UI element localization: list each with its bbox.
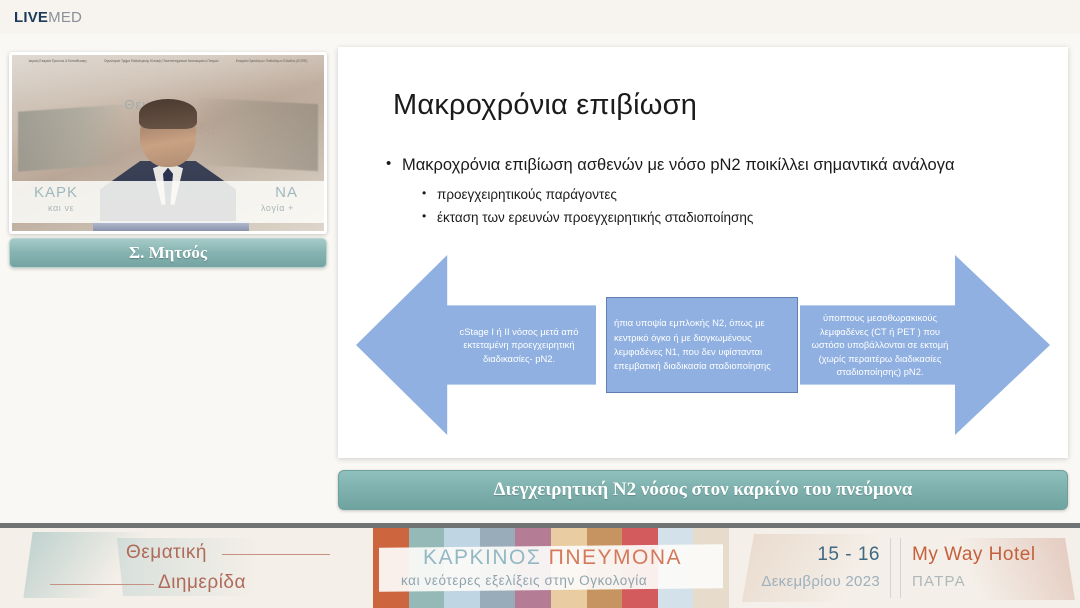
livemed-logo[interactable]: LIVEMED <box>14 9 82 26</box>
backdrop-organizers: Ιατρική Εταιρεία Έρευνας & Εκπαίδευσης Ο… <box>12 59 324 64</box>
backdrop-banner-left: ΚΑΡΚ <box>34 184 78 201</box>
logo-live-text: LIVE <box>14 9 48 26</box>
session-title-banner: Διεγχειρητική Ν2 νόσος στον καρκίνο του … <box>338 470 1068 510</box>
footer-rule-bottom <box>50 584 154 585</box>
slide-title: Μακροχρόνια επιβίωση <box>393 89 697 122</box>
footer-left-block: Θεματική Διημερίδα <box>0 528 370 608</box>
footer-divider-1 <box>890 538 891 598</box>
slide-bullet-list: Μακροχρόνια επιβίωση ασθενών με νόσο pN2… <box>386 155 1026 231</box>
footer-conference-subtitle: και νεότερες εξελίξεις στην Ογκολογία <box>401 573 647 588</box>
right-arrow-shape: ύποπτους μεσοθωρακικούς λεμφαδένες (CT ή… <box>800 255 1050 435</box>
conference-footer: Θεματική Διημερίδα ΚΑΡΚΙΝΟΣ ΠΝΕΥΜΟΝΑ και… <box>0 528 1080 608</box>
bullet-main: Μακροχρόνια επιβίωση ασθενών με νόσο pN2… <box>386 155 1026 177</box>
footer-diimerida-text: Διημερίδα <box>158 572 246 594</box>
backdrop-banner-sub-right: λογία + <box>261 203 294 213</box>
footer-dates-month: Δεκεμβρίου 2023 <box>746 573 880 590</box>
organizer-line-2: Ογκολογικό Τμήμα Παθολογικής Κλινικής Πα… <box>104 59 219 64</box>
footer-center-logo: ΚΑΡΚΙΝΟΣ ΠΝΕΥΜΟΝΑ και νεότερες εξελίξεις… <box>373 528 729 608</box>
footer-dates: 15 - 16 <box>790 544 880 566</box>
left-arrow-shape: cStage I ή II νόσος μετά από εκτεταμένη … <box>356 255 596 435</box>
session-title-text: Διεγχειρητική Ν2 νόσος στον καρκίνο του … <box>494 479 913 501</box>
footer-conference-title: ΚΑΡΚΙΝΟΣ ΠΝΕΥΜΟΝΑ <box>423 546 682 570</box>
sub-bullet-2: έκταση των ερευνών προεγχειρητικής σταδι… <box>422 208 1026 228</box>
sub-bullet-1: προεγχειρητικούς παράγοντες <box>422 185 1026 205</box>
middle-box-label: ήπια υποψία εμπλοκής N2, όπως με κεντρικ… <box>614 316 790 373</box>
organizer-line-1: Ιατρική Εταιρεία Έρευνας & Εκπαίδευσης <box>29 59 87 64</box>
pn2-diagram: cStage I ή II νόσος μετά από εκτεταμένη … <box>356 255 1050 435</box>
title-part-karkinos: ΚΑΡΚΙΝΟΣ <box>423 546 541 569</box>
top-bar: LIVEMED <box>0 0 1080 34</box>
right-arrow-label: ύποπτους μεσοθωρακικούς λεμφαδένες (CT ή… <box>806 311 954 379</box>
speaker-hair <box>139 99 197 129</box>
footer-city: ΠΑΤΡΑ <box>912 573 966 590</box>
speaker-name: Σ. Μητσός <box>129 243 207 263</box>
title-part-pnevmona: ΠΝΕΥΜΟΝΑ <box>541 546 682 569</box>
footer-right-block: 15 - 16 Δεκεμβρίου 2023 My Way Hotel ΠΑΤ… <box>730 528 1080 608</box>
logo-med-text: MED <box>48 9 82 26</box>
organizer-line-3: Εταιρεία Ογκολόγων Παθολόγων Ελλάδος (ΕΟ… <box>236 59 308 64</box>
footer-rule-top <box>222 554 330 555</box>
footer-venue: My Way Hotel <box>912 544 1036 566</box>
footer-divider-2 <box>900 538 901 598</box>
presentation-slide[interactable]: Μακροχρόνια επιβίωση Μακροχρόνια επιβίωσ… <box>338 47 1068 458</box>
left-arrow-label: cStage I ή II νόσος μετά από εκτεταμένη … <box>449 325 589 366</box>
footer-thematiki-text: Θεματική <box>126 542 207 564</box>
backdrop-banner-sub-left: και νε <box>48 203 74 213</box>
middle-box-shape: ήπια υποψία εμπλοκής N2, όπως με κεντρικ… <box>606 297 798 393</box>
backdrop-banner: ΚΑΡΚ ΝΑ και νε λογία + <box>12 181 324 223</box>
sub-bullet-list: προεγχειρητικούς παράγοντες έκταση των ε… <box>386 185 1026 229</box>
backdrop-banner-right: ΝΑ <box>275 184 298 201</box>
speaker-video[interactable]: Ιατρική Εταιρεία Έρευνας & Εκπαίδευσης Ο… <box>9 52 327 234</box>
speaker-nameplate: Σ. Μητσός <box>9 238 327 268</box>
